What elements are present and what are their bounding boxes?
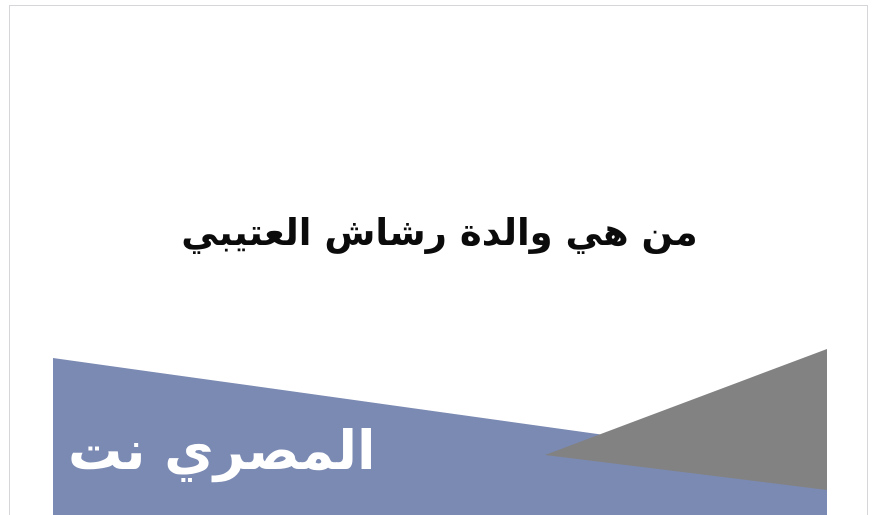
gray-wedge-shape <box>545 349 827 490</box>
frame-border-left <box>9 5 10 515</box>
page-title: من هي والدة رشاش العتيبي <box>0 208 879 258</box>
brand-wordmark: المصري نت <box>68 424 376 478</box>
article-cover-card: من هي والدة رشاش العتيبي المصري نت <box>0 0 879 515</box>
frame-border-top <box>9 5 868 6</box>
frame-border-right <box>867 5 868 515</box>
